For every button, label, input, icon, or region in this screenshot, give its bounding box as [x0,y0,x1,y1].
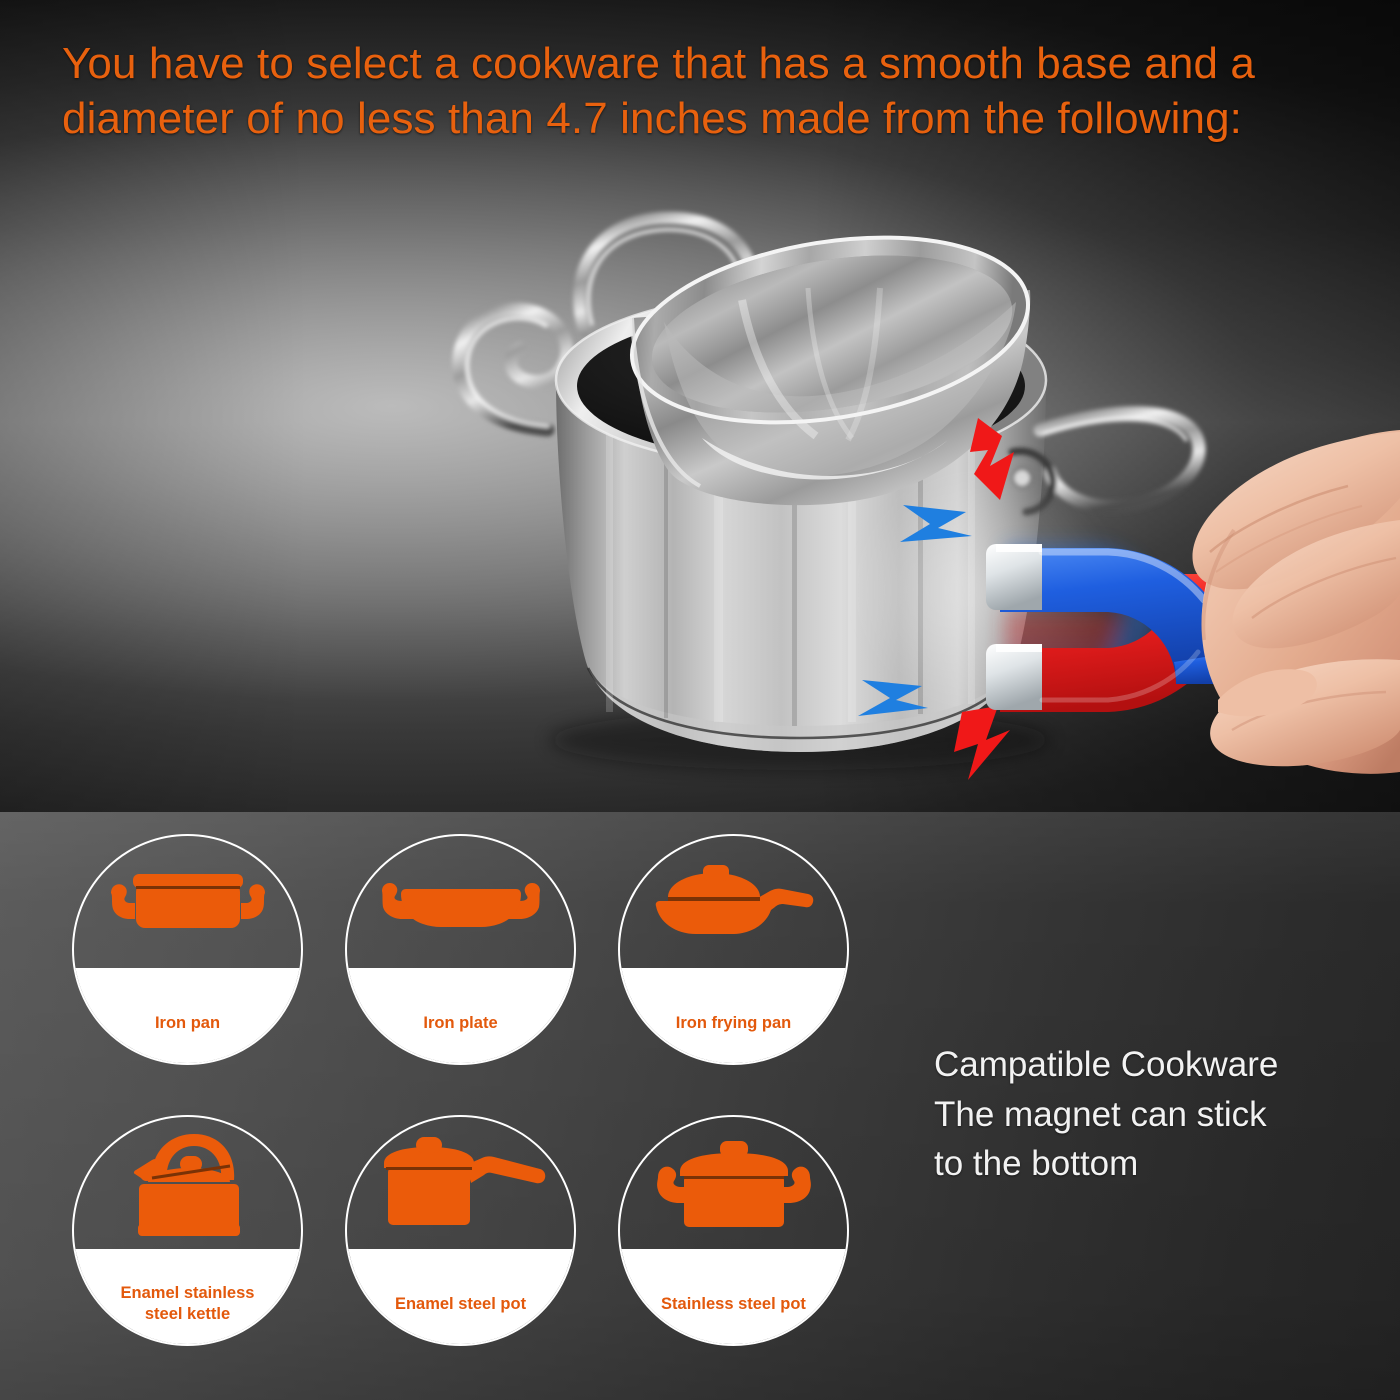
badge-row: Enamel stainless steel kettle [72,1115,872,1346]
badge-label: Stainless steel pot [630,1249,837,1344]
magnet-south-tip [986,644,1042,710]
infographic-canvas: You have to select a cookware that has a… [0,0,1400,1400]
badge-iron-plate[interactable]: Iron plate [345,834,576,1065]
iron-frying-pan-icon [620,836,847,968]
badge-label: Iron frying pan [630,968,837,1063]
magnet-north-tip [986,544,1042,610]
hand-holding-magnet [1192,430,1400,774]
enamel-stainless-steel-kettle-icon [74,1117,301,1249]
badge-iron-frying-pan[interactable]: Iron frying pan [618,834,849,1065]
badge-label: Enamel steel pot [357,1249,564,1344]
hero-panel: You have to select a cookware that has a… [0,0,1400,812]
iron-plate-icon [347,836,574,968]
badge-iron-pan[interactable]: Iron pan [72,834,303,1065]
badge-enamel-steel-pot[interactable]: Enamel steel pot [345,1115,576,1346]
enamel-steel-pot-icon [347,1117,574,1249]
badge-stainless-steel-pot[interactable]: Stainless steel pot [618,1115,849,1346]
badge-label: Iron pan [84,968,291,1063]
badge-enamel-stainless-steel-kettle[interactable]: Enamel stainless steel kettle [72,1115,303,1346]
headline-text: You have to select a cookware that has a… [62,36,1352,147]
cookware-badge-grid: Iron pan Iron plate [72,834,872,1346]
badge-label: Iron plate [357,968,564,1063]
badge-label: Enamel stainless steel kettle [84,1249,291,1344]
badge-row: Iron pan Iron plate [72,834,872,1065]
compatible-cookware-panel: Iron pan Iron plate [0,812,1400,1400]
compatible-cookware-note: Campatible Cookware The magnet can stick… [934,1040,1364,1189]
iron-pan-icon [74,836,301,968]
stainless-steel-pot-icon [620,1117,847,1249]
pot-handle-left [459,309,567,430]
